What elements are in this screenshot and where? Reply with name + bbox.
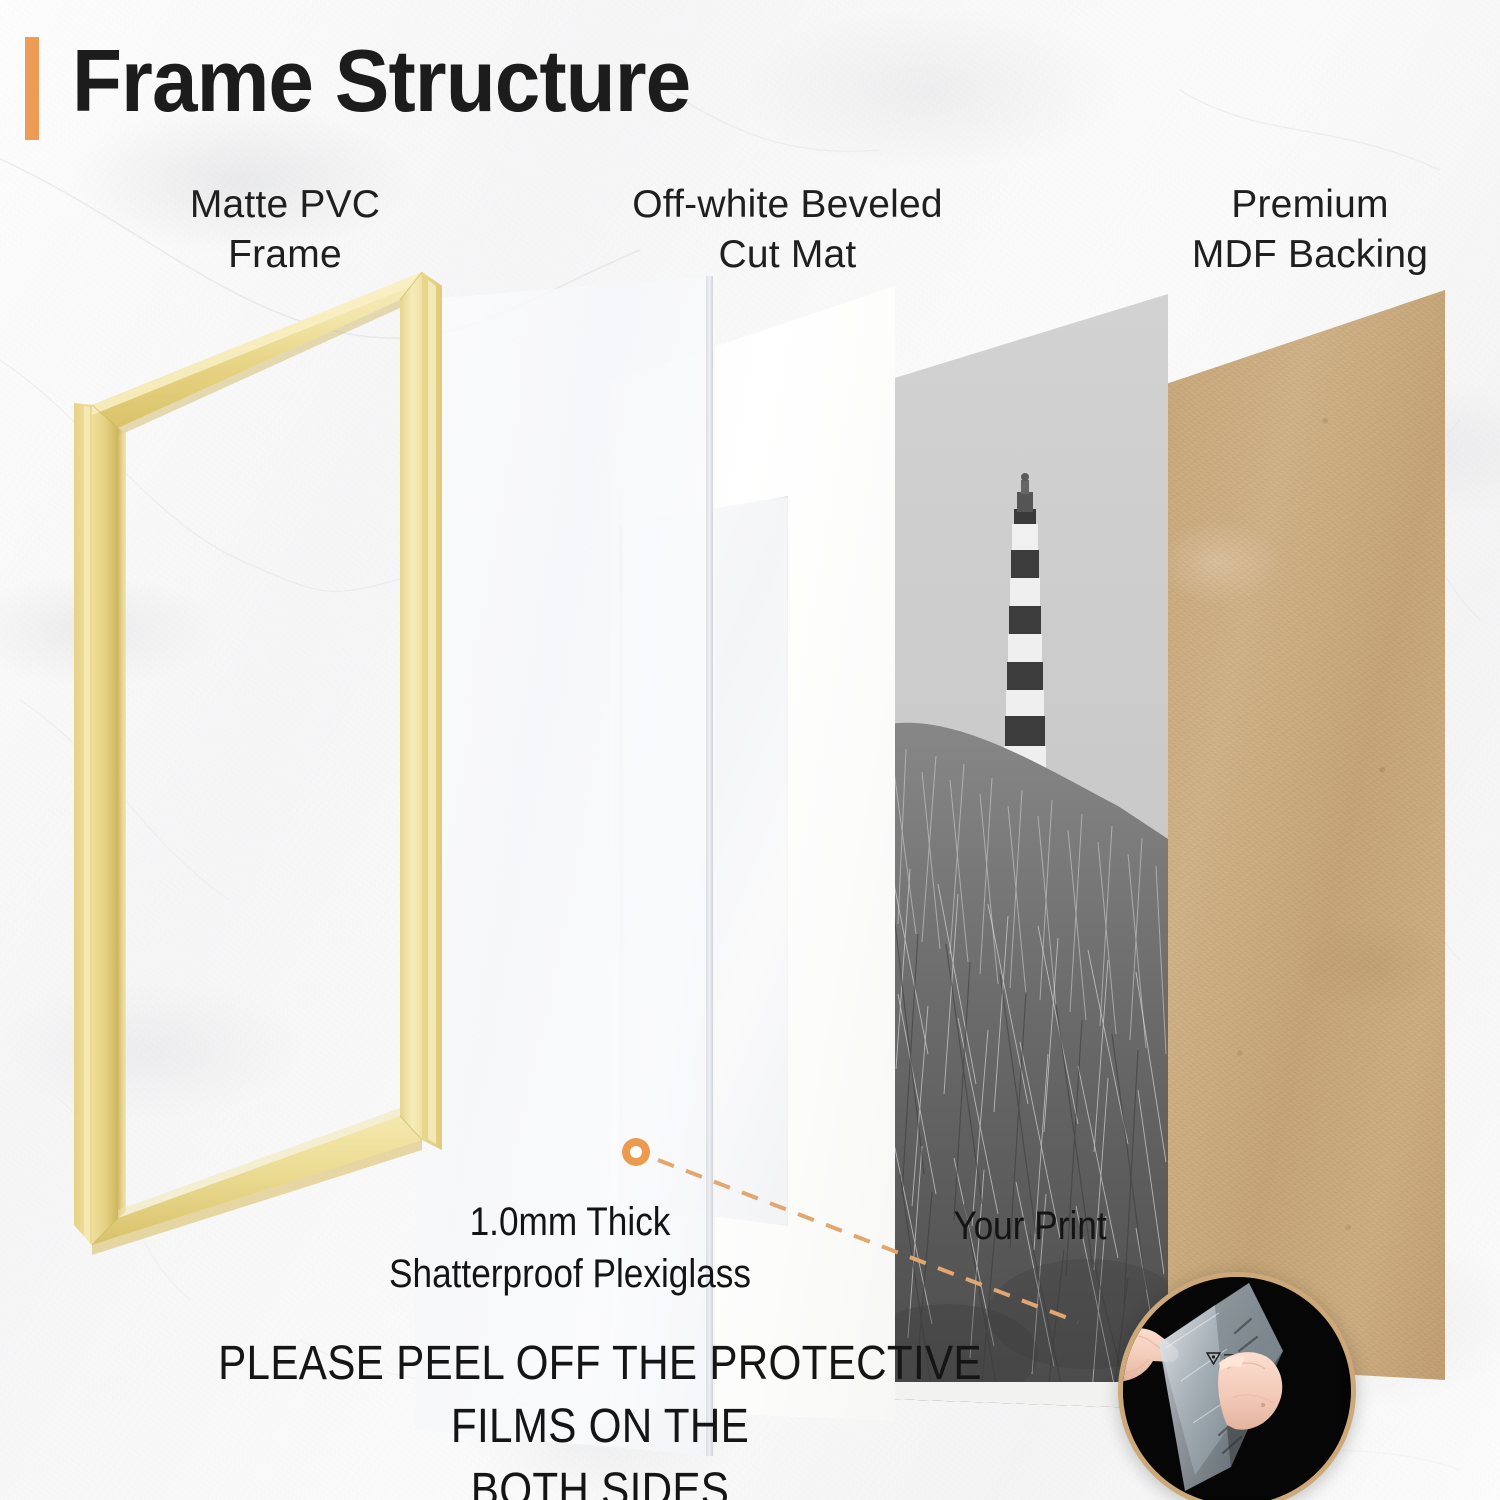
- banner-line-1: PLEASE PEEL OFF THE PROTECTIVE: [178, 1332, 1023, 1395]
- page-title: Frame Structure: [72, 30, 690, 132]
- label-line-2: MDF Backing: [1130, 230, 1490, 280]
- peel-instruction-banner: PLEASE PEEL OFF THE PROTECTIVE FILMS ON …: [178, 1332, 1023, 1500]
- inset-photo-peel-film: [1118, 1272, 1356, 1500]
- mdf-backing-texture: [1160, 290, 1445, 1380]
- banner-line-2: FILMS ON THE BOTH SIDES: [178, 1395, 1023, 1500]
- label-line-1: Your Print: [898, 1200, 1162, 1252]
- label-beveled-cut-mat: Off-white Beveled Cut Mat: [555, 180, 1020, 280]
- label-shatterproof-plexiglass: 1.0mm Thick Shatterproof Plexiglass: [280, 1196, 861, 1300]
- label-your-print: Your Print: [898, 1200, 1162, 1252]
- title-accent-bar: [25, 37, 39, 140]
- label-line-2: Shatterproof Plexiglass: [280, 1248, 861, 1300]
- label-line-1: Off-white Beveled: [555, 180, 1020, 230]
- label-line-2: Cut Mat: [555, 230, 1020, 280]
- banner-line-2-plain: FILMS ON THE: [178, 1395, 1023, 1458]
- peel-film-illustration: [1123, 1277, 1341, 1495]
- label-line-1: Premium: [1130, 180, 1490, 230]
- infographic-canvas: Frame Structure Matte PVC Frame Off-whit…: [0, 0, 1500, 1500]
- banner-highlight: BOTH SIDES: [178, 1459, 1023, 1500]
- label-premium-mdf-backing: Premium MDF Backing: [1130, 180, 1490, 280]
- label-line-1: 1.0mm Thick: [280, 1196, 861, 1248]
- label-line-1: Matte PVC: [105, 180, 465, 230]
- layer-matte-pvc-frame: [70, 260, 490, 1260]
